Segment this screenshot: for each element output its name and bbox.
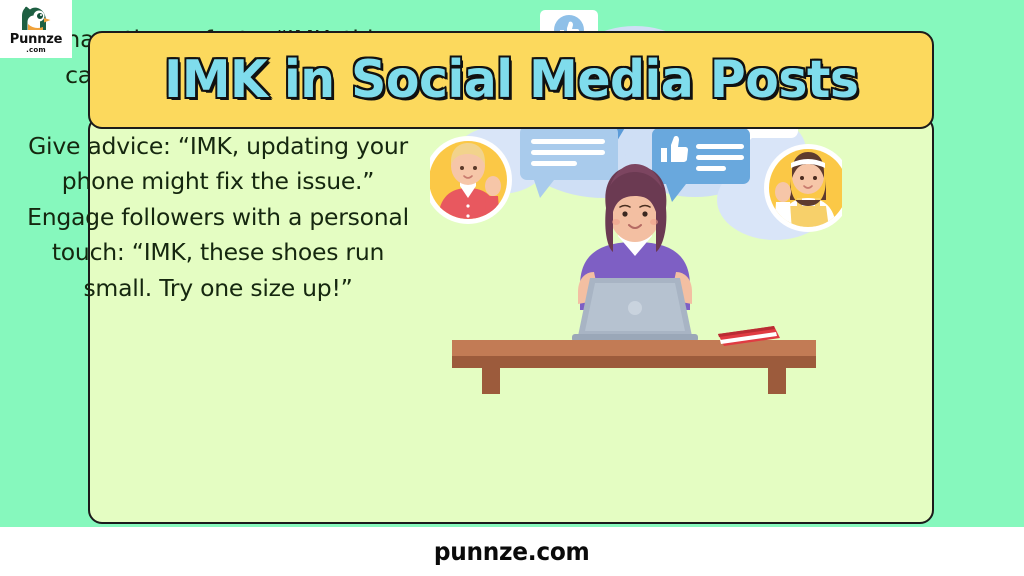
duck-mascot-icon [21,6,51,32]
avatar-left [430,136,512,230]
header-card: IMK in Social Media Posts [88,31,934,129]
brand-logo-tld: .com [26,46,46,54]
slide-canvas: Punnze .com IMK in Social Media Posts Sh… [0,0,1024,576]
brand-logo-word: Punnze [10,33,62,46]
page-title: IMK in Social Media Posts [164,53,858,107]
wooden-desk [452,340,816,394]
brand-logo[interactable]: Punnze .com [0,0,72,58]
laptop [572,278,698,342]
content-line-2: Give advice: “IMK, updating your phone m… [27,129,409,200]
content-line-3: Engage followers with a personal touch: … [27,200,409,307]
